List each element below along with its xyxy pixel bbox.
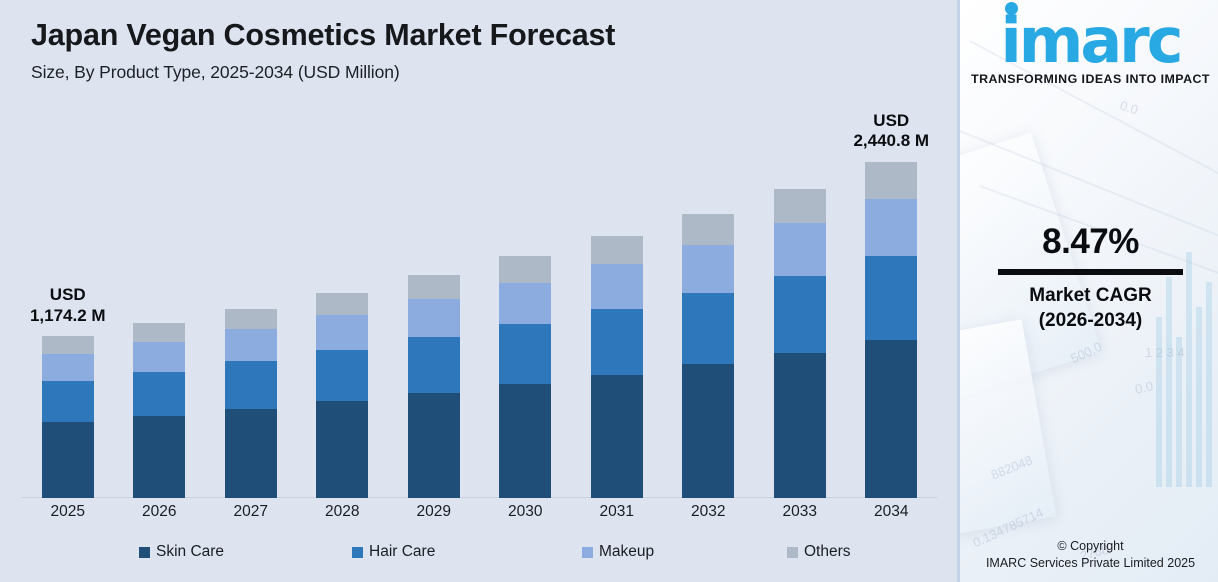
- legend-swatch-icon: [582, 547, 593, 558]
- stacked-bar: [42, 336, 94, 498]
- bar-segment-hair-care: [225, 361, 277, 408]
- bar-segment-hair-care: [133, 372, 185, 416]
- x-tick-2029: 2029: [388, 503, 480, 521]
- stacked-bar: [499, 256, 551, 498]
- stacked-bar: [316, 293, 368, 498]
- bar-segment-hair-care: [408, 337, 460, 393]
- bar-group-2028: [297, 100, 389, 498]
- bar-segment-hair-care: [682, 293, 734, 364]
- bar-group-2029: [388, 100, 480, 498]
- bar-segment-hair-care: [316, 350, 368, 401]
- value-callout-unit: USD: [30, 285, 106, 306]
- legend-label: Others: [804, 543, 851, 561]
- legend-label: Skin Care: [156, 543, 224, 561]
- stacked-bar: [133, 323, 185, 498]
- cagr-block: 8.47% Market CAGR (2026-2034): [960, 222, 1218, 332]
- value-callout-amount: 1,174.2 M: [30, 306, 106, 327]
- bar-segment-makeup: [42, 354, 94, 381]
- legend-label: Hair Care: [369, 543, 435, 561]
- bar-segment-makeup: [225, 329, 277, 361]
- bar-group-2031: [571, 100, 663, 498]
- copyright-line-1: © Copyright: [960, 539, 1218, 553]
- bar-segment-makeup: [316, 315, 368, 350]
- legend-item-makeup[interactable]: Makeup: [582, 543, 654, 561]
- copyright-block: © Copyright IMARC Services Private Limit…: [960, 539, 1218, 570]
- cagr-label-period: (2026-2034): [960, 310, 1218, 332]
- cagr-label-primary: Market CAGR: [960, 285, 1218, 307]
- background-mini-bar: [1156, 317, 1162, 487]
- x-tick-2031: 2031: [571, 503, 663, 521]
- bar-segment-makeup: [408, 299, 460, 337]
- stacked-bar: [408, 275, 460, 498]
- x-tick-2027: 2027: [205, 503, 297, 521]
- plot-area: USD1,174.2 MUSD2,440.8 M: [22, 100, 937, 498]
- cagr-value: 8.47%: [960, 222, 1218, 262]
- bar-segment-others: [42, 336, 94, 354]
- bar-segment-others: [408, 275, 460, 299]
- legend-swatch-icon: [139, 547, 150, 558]
- bar-segment-hair-care: [499, 324, 551, 384]
- bar-segment-skin-care: [42, 422, 94, 498]
- bar-segment-skin-care: [225, 409, 277, 498]
- bar-segment-makeup: [133, 342, 185, 372]
- legend-label: Makeup: [599, 543, 654, 561]
- x-tick-2034: 2034: [846, 503, 938, 521]
- x-tick-2025: 2025: [22, 503, 114, 521]
- cagr-divider: [998, 269, 1183, 275]
- x-axis-tick-labels: 2025202620272028202920302031203220332034: [22, 503, 937, 529]
- bar-segment-makeup: [865, 199, 917, 256]
- stacked-bar: [591, 236, 643, 498]
- legend-item-hair-care[interactable]: Hair Care: [352, 543, 435, 561]
- bar-segment-others: [865, 162, 917, 199]
- bar-segment-skin-care: [133, 416, 185, 498]
- bar-segment-skin-care: [774, 353, 826, 498]
- background-number-text: 0.0: [1118, 98, 1140, 118]
- bar-segment-others: [682, 214, 734, 245]
- bar-segment-skin-care: [499, 384, 551, 498]
- bar-segment-makeup: [682, 245, 734, 293]
- stacked-bar: [682, 214, 734, 498]
- bar-segment-makeup: [774, 223, 826, 275]
- bar-segment-hair-care: [42, 381, 94, 421]
- legend-item-skin-care[interactable]: Skin Care: [139, 543, 224, 561]
- bar-segment-others: [316, 293, 368, 315]
- bar-group-2027: [205, 100, 297, 498]
- x-tick-2033: 2033: [754, 503, 846, 521]
- copyright-line-2: IMARC Services Private Limited 2025: [960, 556, 1218, 570]
- legend-swatch-icon: [787, 547, 798, 558]
- bar-group-2032: [663, 100, 755, 498]
- infographic-root: Japan Vegan Cosmetics Market Forecast Si…: [0, 0, 1218, 582]
- stacked-bar: [225, 309, 277, 498]
- page-subtitle: Size, By Product Type, 2025-2034 (USD Mi…: [31, 62, 921, 83]
- bar-segment-makeup: [591, 264, 643, 309]
- stacked-bar: [865, 162, 917, 498]
- x-tick-2032: 2032: [663, 503, 755, 521]
- value-callout-2025: USD1,174.2 M: [30, 285, 106, 326]
- page-title: Japan Vegan Cosmetics Market Forecast: [31, 16, 921, 54]
- bar-segment-hair-care: [774, 276, 826, 353]
- bar-segment-others: [133, 323, 185, 342]
- bar-group-2026: [114, 100, 206, 498]
- bar-segment-hair-care: [591, 309, 643, 375]
- bar-segment-skin-care: [316, 401, 368, 498]
- bar-group-2034: USD2,440.8 M: [846, 100, 938, 498]
- bar-segment-skin-care: [591, 375, 643, 498]
- bar-segment-others: [499, 256, 551, 282]
- logo-text: imarc: [1000, 4, 1180, 77]
- brand-panel: 1 2 3 4 0.0 500.0 882048 0.134785714 276…: [957, 0, 1218, 582]
- background-number-text: 1 2 3 4: [1145, 345, 1185, 360]
- imarc-logo: imarc TRANSFORMING IDEAS INTO IMPACT: [960, 12, 1218, 86]
- bar-segment-others: [774, 189, 826, 223]
- stacked-bar: [774, 189, 826, 498]
- bar-segment-skin-care: [682, 364, 734, 498]
- title-block: Japan Vegan Cosmetics Market Forecast Si…: [31, 16, 921, 83]
- value-callout-unit: USD: [853, 111, 929, 132]
- bar-segment-skin-care: [865, 340, 917, 498]
- chart-legend: Skin CareHair CareMakeupOthers: [22, 543, 937, 567]
- legend-item-others[interactable]: Others: [787, 543, 851, 561]
- legend-swatch-icon: [352, 547, 363, 558]
- value-callout-amount: 2,440.8 M: [853, 131, 929, 152]
- background-number-text: 0.0: [1134, 378, 1155, 396]
- bar-group-2033: [754, 100, 846, 498]
- value-callout-2034: USD2,440.8 M: [853, 111, 929, 152]
- bar-segment-hair-care: [865, 256, 917, 340]
- x-tick-2028: 2028: [297, 503, 389, 521]
- bar-segment-makeup: [499, 283, 551, 324]
- x-tick-2026: 2026: [114, 503, 206, 521]
- x-tick-2030: 2030: [480, 503, 572, 521]
- bar-group-2025: USD1,174.2 M: [22, 100, 114, 498]
- bar-segment-skin-care: [408, 393, 460, 498]
- chart-panel: Japan Vegan Cosmetics Market Forecast Si…: [0, 0, 957, 582]
- bar-segment-others: [225, 309, 277, 330]
- bar-segment-others: [591, 236, 643, 265]
- logo-wordmark: imarc: [1000, 12, 1180, 71]
- background-mini-bar: [1196, 307, 1202, 487]
- bar-group-2030: [480, 100, 572, 498]
